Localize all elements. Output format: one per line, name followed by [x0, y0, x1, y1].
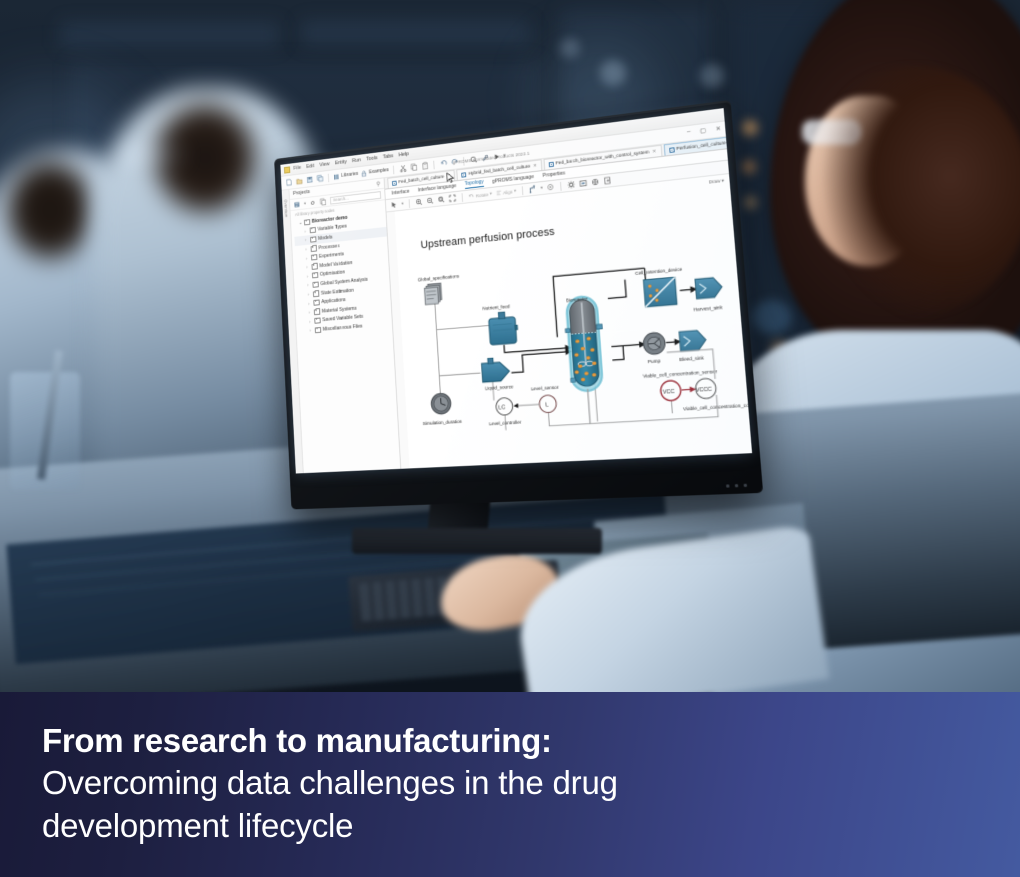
new-project-icon[interactable]: [293, 200, 300, 208]
chevron-right-icon[interactable]: ›: [308, 292, 312, 297]
monitor-screen: File Edit View Entity Run Tools Tabs Hel…: [280, 108, 752, 473]
paste-icon[interactable]: [420, 161, 429, 171]
node-bleed-sink: Bleed_sink: [677, 330, 707, 363]
toolbar-separator: [433, 160, 434, 169]
woman-glasses: [802, 120, 860, 144]
close-tab-icon[interactable]: ✕: [652, 148, 656, 155]
folder-icon: [313, 291, 319, 297]
overview-rail-label: Overview: [283, 199, 288, 217]
chevron-right-icon[interactable]: ›: [305, 247, 309, 252]
toolbar-separator: [522, 186, 524, 195]
toolbar-separator: [560, 181, 562, 190]
node-cell-retention-device: Cell_retention_device: [635, 266, 686, 307]
chevron-down-icon[interactable]: ⌄: [299, 220, 303, 226]
subtab-topology[interactable]: Topology: [464, 179, 483, 189]
close-tab-icon[interactable]: ✕: [533, 163, 537, 169]
tag-vccc: VCCC: [696, 386, 713, 394]
toolbar-separator: [393, 165, 394, 174]
folder-icon: [310, 227, 316, 233]
rotate-label: Rotate: [476, 192, 489, 198]
node-harvest-sink: Harvest_sink: [691, 277, 724, 312]
close-tab-icon[interactable]: ✕: [729, 139, 734, 146]
menu-item-help[interactable]: Help: [398, 151, 408, 158]
title-banner: From research to manufacturing: Overcomi…: [0, 692, 1020, 877]
tag-level-controller: LC: [498, 405, 506, 412]
projects-title: Projects: [293, 189, 310, 197]
zoom-out-icon[interactable]: [426, 196, 434, 205]
folder-icon: [315, 327, 321, 333]
fit-page-icon[interactable]: [449, 194, 457, 203]
label-global-specifications: Global_specifications: [418, 273, 460, 282]
label-pump: Pump: [647, 358, 661, 364]
route-icon[interactable]: [529, 185, 537, 194]
model-icon: [462, 172, 467, 177]
label-level-sensor: Level_sensor: [531, 384, 560, 391]
bokeh-light: [600, 60, 626, 86]
tree-item-label: Miscellaneous Files: [323, 323, 363, 332]
chevron-right-icon[interactable]: ›: [306, 265, 310, 270]
monitor-led: [744, 484, 748, 487]
zoom-region-icon[interactable]: [437, 195, 445, 204]
chevron-right-icon[interactable]: ›: [305, 238, 309, 243]
monitor-led: [735, 484, 739, 487]
banner-subline-1: Overcoming data challenges in the drug: [42, 762, 1020, 805]
node-global-specifications: Global_specifications: [418, 273, 462, 305]
copy-icon[interactable]: [320, 197, 327, 205]
pin-icon[interactable]: ⚲: [376, 180, 380, 187]
monitor-bezel: File Edit View Entity Run Tools Tabs Hel…: [274, 100, 763, 509]
toolbar-separator: [328, 173, 329, 182]
select-caret[interactable]: ▾: [401, 201, 403, 207]
copy-icon[interactable]: [409, 162, 418, 172]
node-level-sensor: L Level_sensor: [513, 384, 561, 414]
select-icon[interactable]: [390, 201, 398, 209]
label-simulation-duration: Simulation_duration: [423, 419, 463, 426]
zoom-in-icon[interactable]: [415, 198, 423, 207]
project-tree[interactable]: ⌄Bioreactor demo›Variable Types›Models›P…: [291, 208, 400, 473]
screenshot-root: File Edit View Entity Run Tools Tabs Hel…: [0, 0, 1020, 877]
toolbar-separator: [409, 199, 410, 208]
new-project-caret[interactable]: ▾: [304, 200, 306, 206]
menu-item-run[interactable]: Run: [352, 157, 361, 164]
libraries-label: Libraries: [341, 171, 358, 179]
computer-monitor: File Edit View Entity Run Tools Tabs Hel…: [274, 100, 763, 509]
align-button[interactable]: Align ▾: [496, 188, 517, 196]
chevron-right-icon[interactable]: ›: [310, 328, 314, 333]
export-icon[interactable]: [603, 176, 612, 185]
bokeh-light: [742, 160, 756, 174]
rotate-caret[interactable]: ▾: [490, 191, 493, 197]
subtab-properties[interactable]: Properties: [543, 170, 566, 179]
bokeh-light: [752, 300, 792, 334]
menu-item-view[interactable]: View: [319, 161, 329, 168]
banner-headline: From research to manufacturing:: [42, 720, 1020, 762]
menu-item-file[interactable]: File: [293, 165, 301, 171]
banner-subline-2: development lifecycle: [42, 805, 1020, 848]
model-icon: [669, 147, 675, 153]
new-file-icon[interactable]: [285, 178, 293, 187]
label-bleed-sink: Bleed_sink: [679, 355, 705, 362]
node-vccc-controller: VCCC Viable_cell_concentration_controlle…: [667, 346, 752, 413]
minimize-icon[interactable]: –: [687, 129, 691, 137]
node-simulation-duration: Simulation_duration: [421, 392, 462, 426]
libraries-button[interactable]: Libraries: [333, 171, 358, 181]
wall-panel: [60, 22, 280, 48]
save-icon[interactable]: [305, 175, 313, 184]
cut-icon[interactable]: [398, 164, 407, 174]
process-flow-diagram[interactable]: Global_specifications Simulation_duratio…: [395, 174, 752, 468]
label-cell-retention-device: Cell_retention_device: [635, 266, 683, 276]
settings-icon[interactable]: [567, 180, 576, 189]
undo-icon[interactable]: [439, 159, 448, 169]
model-icon: [392, 180, 397, 185]
chevron-right-icon[interactable]: ›: [307, 283, 311, 288]
group-icon[interactable]: [546, 183, 554, 192]
menu-item-edit[interactable]: Edit: [306, 163, 314, 170]
chevron-right-icon[interactable]: ›: [309, 310, 313, 315]
menu-item-entity[interactable]: Entity: [335, 159, 347, 166]
chevron-right-icon[interactable]: ›: [304, 229, 308, 234]
subtab-interface[interactable]: Interface: [392, 189, 410, 197]
preview-icon[interactable]: [579, 179, 588, 188]
label-liquid-source: Liquid_source: [485, 384, 514, 391]
examples-label: Examples: [369, 167, 389, 175]
toolbar-separator: [462, 193, 463, 202]
glasses-glint: [122, 150, 182, 160]
menu-item-tools[interactable]: Tools: [366, 155, 378, 162]
editor-area: Fed_batch_cell_culture✕Hybrid_fed_batch_…: [385, 137, 753, 469]
tag-level-sensor: L: [545, 402, 549, 409]
label-vcc-sensor: Viable_cell_concentration_sensor: [643, 368, 718, 378]
bokeh-light: [744, 196, 757, 209]
lab-photo: File Edit View Entity Run Tools Tabs Hel…: [0, 0, 1020, 692]
align-caret[interactable]: ▾: [514, 188, 517, 194]
wall-panel: [300, 20, 530, 46]
close-icon[interactable]: ✕: [715, 125, 721, 133]
bokeh-light: [742, 120, 758, 136]
route-caret[interactable]: ▾: [540, 185, 543, 191]
node-level-controller: LC Level_controller: [487, 397, 522, 426]
app-body: Overview Projects ⚲ ▾: [282, 137, 752, 474]
chevron-right-icon[interactable]: ›: [306, 256, 310, 261]
label-harvest-sink: Harvest_sink: [693, 304, 723, 312]
folder-icon: [311, 254, 317, 260]
label-level-controller: Level_controller: [489, 419, 522, 426]
mouse-cursor: [446, 172, 455, 185]
menu-item-tabs[interactable]: Tabs: [383, 153, 394, 160]
open-folder-icon[interactable]: [295, 176, 303, 185]
node-nutrient-feed: Nutrient_feed: [482, 303, 518, 345]
chevron-right-icon[interactable]: ›: [309, 319, 313, 324]
save-all-icon[interactable]: [316, 174, 324, 183]
gproms-application: File Edit View Entity Run Tools Tabs Hel…: [280, 108, 752, 473]
folder-icon: [314, 318, 320, 324]
tag-vcc: VCC: [663, 389, 676, 396]
bokeh-light: [560, 38, 580, 58]
tree-item-label: Models: [318, 235, 333, 242]
node-liquid-source: Liquid_source: [481, 357, 514, 391]
node-bioreactor: Bioreactor: [563, 295, 609, 425]
folder-icon: [312, 281, 318, 287]
folder-icon: [310, 236, 316, 242]
topology-canvas[interactable]: Draw ▾ Upstream perfusion process: [386, 174, 752, 469]
rotate-button[interactable]: Rotate ▾: [468, 191, 492, 200]
folder-icon: [313, 300, 319, 306]
folder-icon: [311, 263, 317, 269]
folder-icon: [304, 219, 310, 225]
projects-panel: Projects ⚲ ▾ Search...: [289, 178, 401, 473]
node-pump: Pump: [643, 332, 667, 365]
app-icon: [284, 166, 290, 173]
link-icon[interactable]: [309, 198, 316, 206]
chevron-right-icon[interactable]: ›: [307, 274, 311, 279]
label-nutrient-feed: Nutrient_feed: [482, 303, 510, 311]
model-icon: [549, 161, 554, 167]
align-label: Align: [503, 189, 513, 195]
folder-icon: [312, 272, 318, 278]
woman-hair-front: [800, 66, 1020, 316]
examples-button[interactable]: Examples: [361, 167, 389, 177]
bokeh-light: [700, 64, 724, 88]
folder-icon: [314, 309, 320, 315]
maximize-icon[interactable]: ▢: [700, 127, 707, 135]
globe-icon[interactable]: [591, 177, 600, 186]
monitor-led: [726, 484, 730, 487]
folder-icon: [311, 245, 317, 251]
monitor-stand-base: [352, 528, 602, 554]
chevron-right-icon[interactable]: ›: [308, 301, 312, 306]
